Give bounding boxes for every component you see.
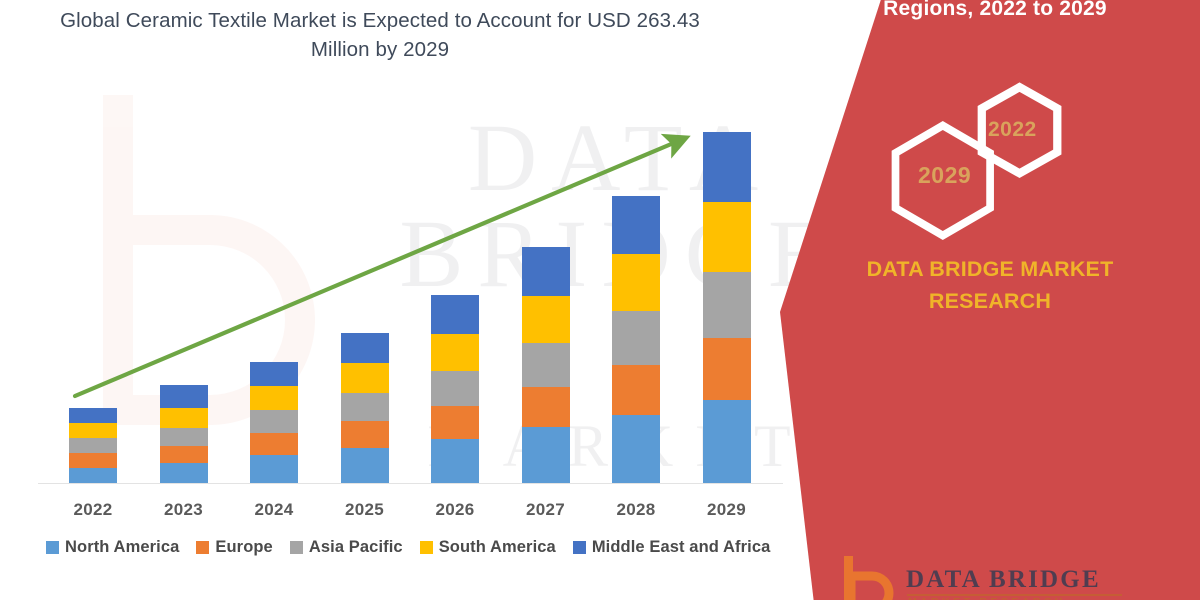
- bar-segment-asia-pacific: [250, 410, 298, 433]
- legend-label: Europe: [215, 538, 272, 557]
- bar-segment-middle-east-and-africa: [431, 295, 479, 334]
- bar-segment-europe: [250, 433, 298, 455]
- bar-segment-north-america: [69, 468, 117, 483]
- bar-segment-south-america: [703, 202, 751, 272]
- legend-swatch-icon: [420, 541, 433, 554]
- bar-2027: [522, 247, 570, 483]
- legend-label: North America: [65, 538, 179, 557]
- bar-segment-south-america: [431, 334, 479, 371]
- legend-item-europe[interactable]: Europe: [196, 538, 272, 557]
- bar-segment-europe: [431, 406, 479, 439]
- bar-segment-north-america: [431, 439, 479, 483]
- bar-segment-north-america: [341, 448, 389, 483]
- bar-segment-middle-east-and-africa: [703, 132, 751, 202]
- x-tick-2029: 2029: [672, 500, 782, 520]
- x-axis-line: [38, 483, 783, 484]
- bar-segment-middle-east-and-africa: [341, 333, 389, 363]
- bar-segment-europe: [703, 338, 751, 400]
- legend-label: South America: [439, 538, 556, 557]
- legend-item-north-america[interactable]: North America: [46, 538, 179, 557]
- bar-segment-south-america: [69, 423, 117, 438]
- legend-label: Asia Pacific: [309, 538, 403, 557]
- bar-segment-asia-pacific: [69, 438, 117, 453]
- bar-segment-south-america: [522, 296, 570, 343]
- bar-segment-north-america: [160, 463, 208, 483]
- right-red-panel: Regions, 2022 to 2029 2022 2029 DATA BRI…: [780, 0, 1200, 600]
- legend-label: Middle East and Africa: [592, 538, 771, 557]
- logo-b-mark-icon: [838, 556, 898, 600]
- bar-segment-europe: [522, 387, 570, 427]
- hexagon-label-2029: 2029: [918, 162, 971, 189]
- brand-line-1: DATA BRIDGE MARKET: [800, 253, 1180, 285]
- bar-2023: [160, 385, 208, 483]
- logo-name: DATA BRIDGE: [906, 566, 1101, 594]
- legend-swatch-icon: [46, 541, 59, 554]
- bar-segment-asia-pacific: [160, 428, 208, 446]
- bar-segment-europe: [341, 421, 389, 448]
- bar-segment-middle-east-and-africa: [522, 247, 570, 296]
- legend-item-middle-east-and-africa[interactable]: Middle East and Africa: [573, 538, 771, 557]
- bar-segment-asia-pacific: [341, 393, 389, 421]
- bar-segment-asia-pacific: [703, 272, 751, 338]
- bar-segment-asia-pacific: [522, 343, 570, 387]
- bar-segment-europe: [160, 446, 208, 463]
- bar-segment-north-america: [250, 455, 298, 483]
- bar-2025: [341, 333, 389, 483]
- legend-swatch-icon: [196, 541, 209, 554]
- logo-tagline: MARKET RESEARCH: [908, 596, 1066, 600]
- legend-item-asia-pacific[interactable]: Asia Pacific: [290, 538, 403, 557]
- bar-segment-south-america: [341, 363, 389, 393]
- brand-name: DATA BRIDGE MARKET RESEARCH: [800, 253, 1180, 318]
- legend-swatch-icon: [290, 541, 303, 554]
- bar-2024: [250, 362, 298, 483]
- bar-segment-south-america: [612, 254, 660, 311]
- bar-segment-south-america: [160, 408, 208, 428]
- chart-plot-area: 20222023202420252026202720282029: [0, 0, 800, 600]
- bar-segment-europe: [612, 365, 660, 415]
- legend-item-south-america[interactable]: South America: [420, 538, 556, 557]
- bar-segment-middle-east-and-africa: [250, 362, 298, 386]
- legend-swatch-icon: [573, 541, 586, 554]
- brand-line-2: RESEARCH: [800, 285, 1180, 317]
- bar-segment-middle-east-and-africa: [160, 385, 208, 408]
- company-logo: DATA BRIDGE MARKET RESEARCH: [838, 556, 1168, 600]
- bar-segment-asia-pacific: [612, 311, 660, 365]
- bar-segment-middle-east-and-africa: [69, 408, 117, 423]
- bar-segment-asia-pacific: [431, 371, 479, 406]
- bar-segment-europe: [69, 453, 117, 468]
- bar-2022: [69, 408, 117, 483]
- hexagon-badges: 2022 2029: [780, 0, 1200, 250]
- bar-2028: [612, 196, 660, 483]
- bar-segment-north-america: [612, 415, 660, 483]
- infographic-canvas: DATA BRIDGE MARKET Global Ceramic Textil…: [0, 0, 1200, 600]
- chart-legend: North AmericaEuropeAsia PacificSouth Ame…: [46, 538, 770, 557]
- hexagon-label-2022: 2022: [988, 118, 1037, 142]
- bar-segment-south-america: [250, 386, 298, 410]
- bar-2026: [431, 295, 479, 483]
- bar-2029: [703, 132, 751, 483]
- bar-segment-middle-east-and-africa: [612, 196, 660, 254]
- bar-segment-north-america: [703, 400, 751, 483]
- bar-segment-north-america: [522, 427, 570, 483]
